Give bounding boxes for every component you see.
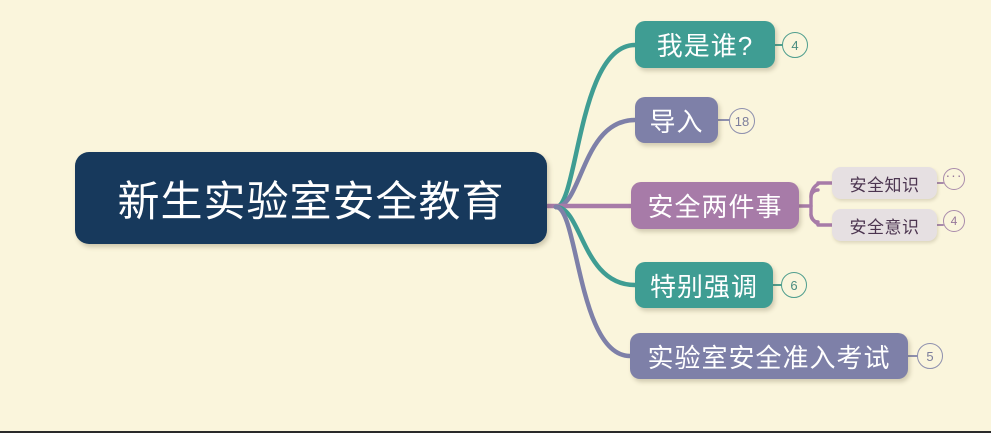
branch-node-who[interactable]: 我是谁? [635,21,775,68]
branch-node-label-two-things: 安全两件事 [647,187,782,224]
sub-node-label-awareness: 安全意识 [850,213,920,238]
mindmap-canvas: 新生实验室安全教育 我是谁? 4 导入 18 安全两件事 安全知识 ··· 安全… [0,0,991,433]
edge-bracket-bottom-curve [811,215,818,224]
root-node-label: 新生实验室安全教育 [117,168,504,229]
badge-count-awareness[interactable]: 4 [943,210,965,232]
badge-count-exam[interactable]: 5 [917,343,943,369]
edge-bracket-two-things [811,190,818,222]
branch-node-label-exam: 实验室安全准入考试 [647,338,890,375]
edge-bracket-top-curve [811,184,818,197]
edge-root-to-who [556,45,635,207]
branch-node-emphasis[interactable]: 特别强调 [635,262,773,308]
branch-node-intro[interactable]: 导入 [635,97,718,143]
branch-node-label-intro: 导入 [649,102,703,139]
badge-count-who-value: 4 [791,39,798,52]
badge-count-awareness-value: 4 [951,215,958,227]
branch-node-label-who: 我是谁? [657,26,753,63]
badge-count-emphasis[interactable]: 6 [781,272,807,298]
badge-collapsed-knowledge[interactable]: ··· [943,168,965,190]
edge-root-to-exam [556,207,630,356]
badge-count-intro-value: 18 [735,115,749,128]
root-node[interactable]: 新生实验室安全教育 [75,152,547,244]
badge-count-exam-value: 5 [926,350,933,363]
edge-root-to-emphasis [556,207,635,285]
badge-collapsed-knowledge-value: ··· [946,168,963,182]
branch-node-label-emphasis: 特别强调 [650,267,758,304]
edge-root-to-intro [556,120,635,207]
badge-count-who[interactable]: 4 [782,32,808,58]
branch-node-two-things[interactable]: 安全两件事 [631,182,799,229]
sub-node-knowledge[interactable]: 安全知识 [832,167,937,199]
badge-count-emphasis-value: 6 [790,279,797,292]
sub-node-awareness[interactable]: 安全意识 [832,209,937,241]
branch-node-exam[interactable]: 实验室安全准入考试 [630,333,908,379]
badge-count-intro[interactable]: 18 [729,108,755,134]
sub-node-label-knowledge: 安全知识 [850,171,920,196]
